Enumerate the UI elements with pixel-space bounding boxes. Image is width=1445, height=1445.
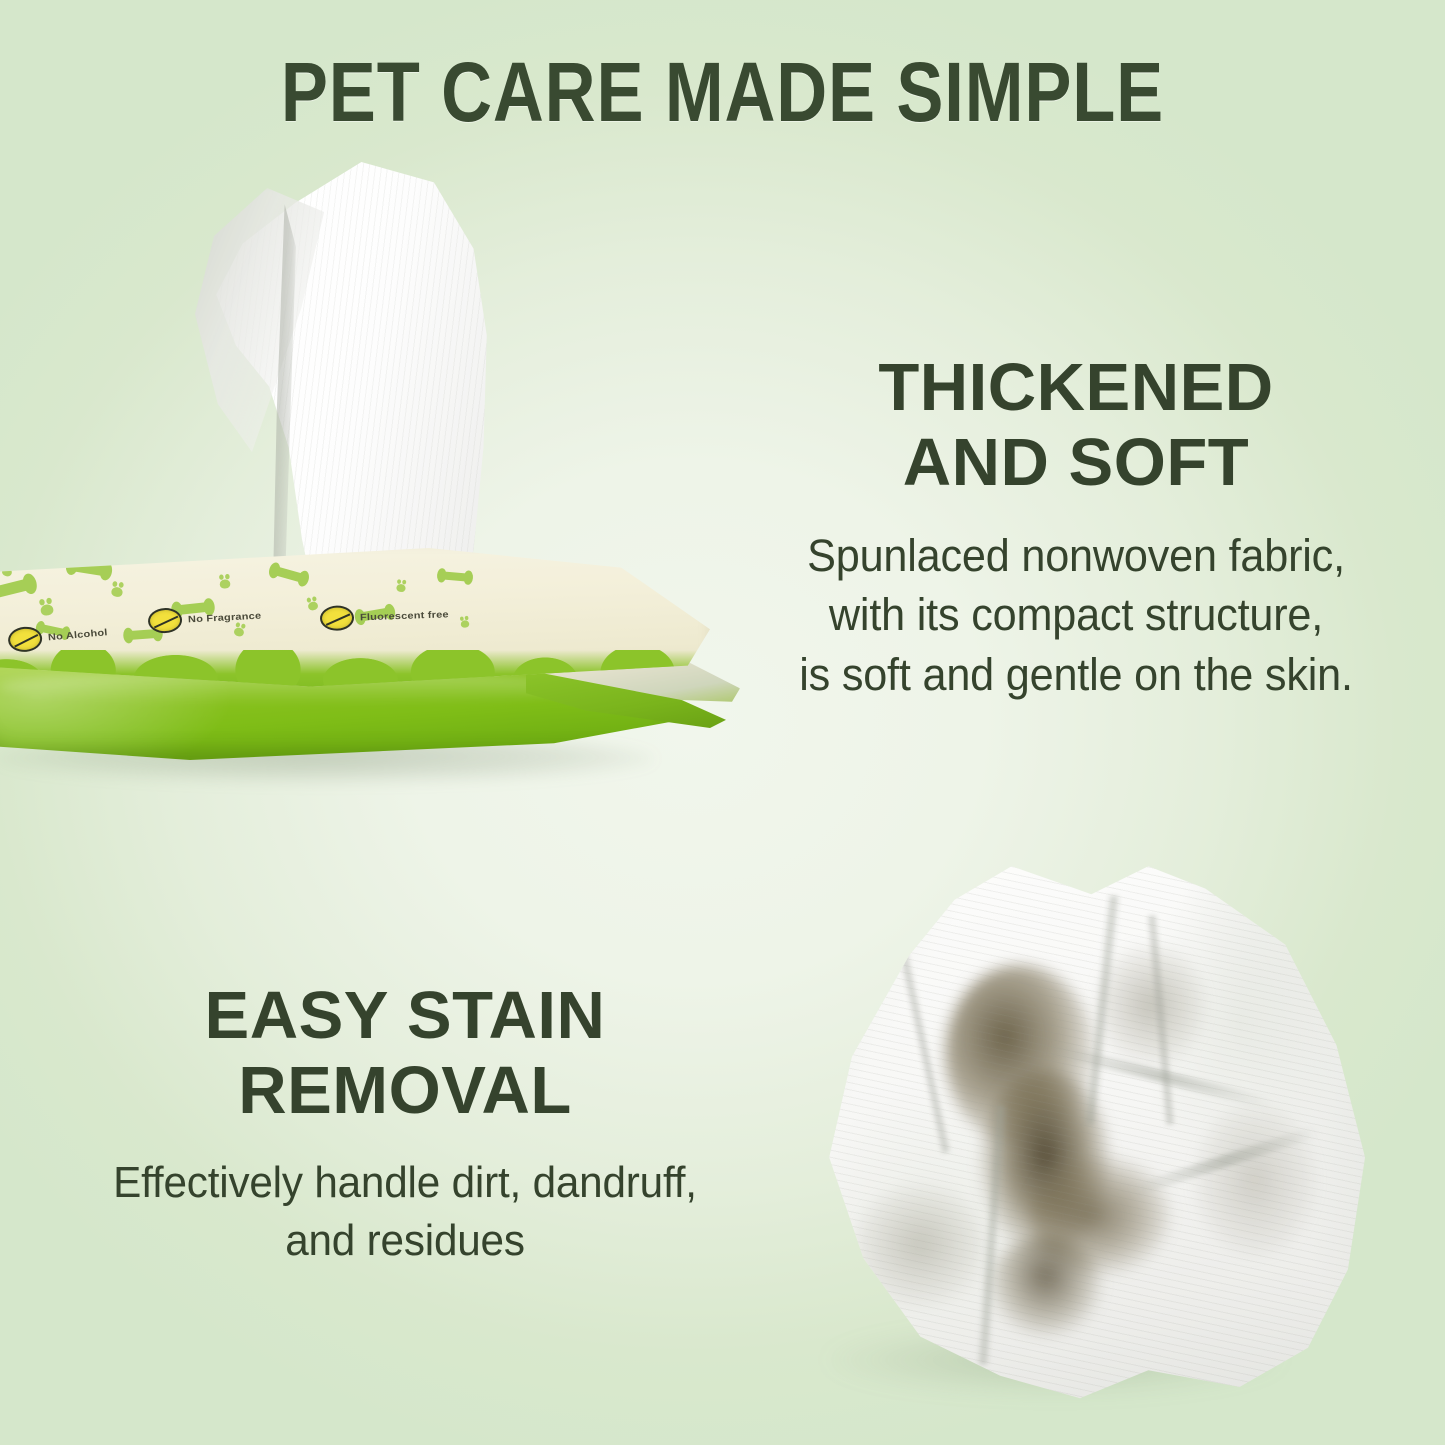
feature-thickened-and-soft: THICKENED AND SOFT Spunlaced nonwoven fa… (746, 350, 1406, 704)
claim-label: No Fragrance (188, 610, 262, 624)
page-title: PET CARE MADE SIMPLE (116, 48, 1330, 136)
paw-print-icon (219, 579, 230, 589)
claim-badge-fluorescent-free: Fluorescent free (320, 602, 450, 631)
feature-easy-stain-removal: EASY STAIN REMOVAL Effectively handle di… (55, 978, 755, 1270)
bone-icon (440, 571, 469, 582)
bone-icon (70, 560, 108, 576)
pet-wipes-pack: No Alcohol No Fragrance Fluorescent free (0, 150, 770, 800)
claim-label: No Alcohol (48, 627, 108, 642)
feature-heading: EASY STAIN REMOVAL (55, 978, 755, 1128)
soiled-wipe (795, 855, 1365, 1415)
paw-print-icon (396, 584, 406, 593)
feature-body: Effectively handle dirt, dandruff, and r… (69, 1154, 741, 1270)
feature-heading: THICKENED AND SOFT (746, 350, 1406, 500)
feature-body: Spunlaced nonwoven fabric, with its comp… (759, 526, 1393, 704)
fluorescent-free-icon (320, 605, 355, 631)
bone-icon (272, 566, 305, 584)
bone-icon (0, 578, 33, 599)
claim-label: Fluorescent free (360, 609, 449, 622)
paw-print-icon (111, 586, 123, 597)
no-fragrance-icon (147, 607, 182, 634)
paw-print-icon (40, 604, 54, 617)
pack-front-label: No Alcohol No Fragrance Fluorescent free (0, 548, 710, 688)
paw-print-icon (1, 566, 13, 577)
paw-print-icon (460, 620, 469, 628)
paw-print-icon (307, 601, 318, 611)
soiled-wipe-texture (795, 855, 1365, 1415)
product-feature-graphic: PET CARE MADE SIMPLE (0, 0, 1445, 1445)
